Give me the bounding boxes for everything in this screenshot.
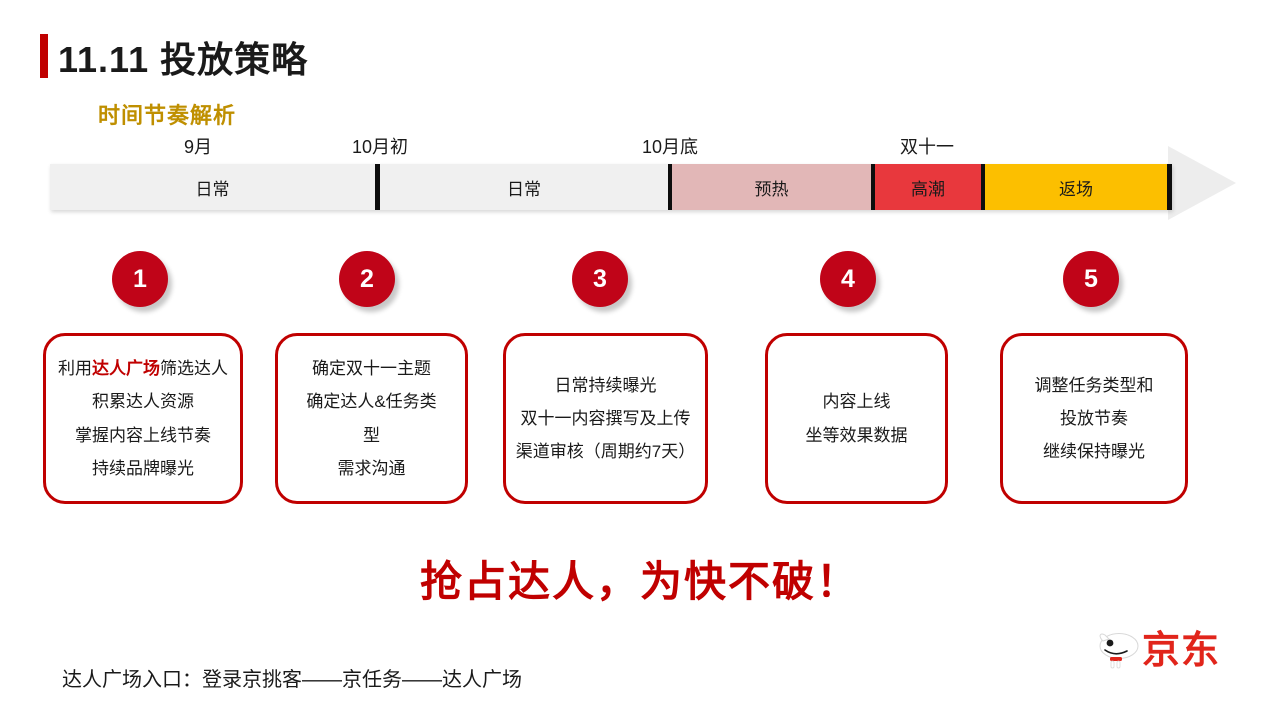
timeline-segment-2: 预热 (668, 164, 875, 210)
step-line: 内容上线 (776, 385, 937, 418)
step-line: 确定双十一主题 (286, 352, 457, 385)
title-accent-bar (40, 34, 48, 78)
step-line: 需求沟通 (286, 452, 457, 485)
step-line: 日常持续曝光 (514, 369, 697, 402)
step-line: 利用达人广场筛选达人 (54, 352, 232, 385)
timeline-segment-1: 日常 (380, 164, 668, 210)
step-box-5: 调整任务类型和投放节奏继续保持曝光 (1000, 333, 1188, 504)
step-line: 持续品牌曝光 (54, 452, 232, 485)
step-line: 继续保持曝光 (1011, 435, 1177, 468)
step-number-badge-3: 3 (572, 251, 628, 307)
step-line: 掌握内容上线节奏 (54, 419, 232, 452)
step-line: 坐等效果数据 (776, 419, 937, 452)
timeline-label-0: 9月 (184, 133, 212, 159)
timeline-label-2: 10月底 (642, 133, 698, 159)
footer-note: 达人广场入口：登录京挑客——京任务——达人广场 (62, 663, 522, 692)
step-text-post: 筛选达人 (160, 359, 228, 378)
step-line: 双十一内容撰写及上传 (514, 402, 697, 435)
slide-canvas: 11.11 投放策略 时间节奏解析 9月10月初10月底双十一 日常日常预热高潮… (0, 0, 1280, 720)
step-number-badge-2: 2 (339, 251, 395, 307)
timeline-bar: 日常日常预热高潮返场 (50, 164, 1172, 210)
step-line: 型 (286, 419, 457, 452)
timeline-label-1: 10月初 (352, 133, 408, 159)
slogan-text: 抢占达人，为快不破！ (0, 548, 1280, 609)
timeline-segment-0: 日常 (50, 164, 375, 210)
step-box-2: 确定双十一主题确定达人&任务类型需求沟通 (275, 333, 468, 504)
step-number-badge-1: 1 (112, 251, 168, 307)
step-line: 确定达人&任务类 (286, 385, 457, 418)
step-box-3: 日常持续曝光双十一内容撰写及上传渠道审核（周期约7天） (503, 333, 708, 504)
page-title: 11.11 投放策略 (58, 31, 308, 83)
jd-logo: 京东 (1096, 628, 1240, 684)
step-line: 渠道审核（周期约7天） (514, 435, 697, 468)
jd-brand-text: 京东 (1142, 632, 1220, 670)
timeline-arrow-head (1168, 146, 1236, 220)
step-number-badge-5: 5 (1063, 251, 1119, 307)
step-number-badge-4: 4 (820, 251, 876, 307)
timeline-segment-4: 返场 (985, 164, 1172, 210)
step-line: 积累达人资源 (54, 385, 232, 418)
step-line: 调整任务类型和 (1011, 369, 1177, 402)
step-text-pre: 利用 (58, 359, 92, 378)
timeline-label-3: 双十一 (900, 133, 954, 159)
jd-dog-icon (1096, 630, 1140, 674)
step-text-highlight: 达人广场 (92, 359, 160, 378)
timeline-labels: 9月10月初10月底双十一 (0, 133, 1280, 161)
step-line: 投放节奏 (1011, 402, 1177, 435)
section-subtitle: 时间节奏解析 (98, 98, 236, 130)
step-box-4: 内容上线坐等效果数据 (765, 333, 948, 504)
timeline-segment-3: 高潮 (875, 164, 985, 210)
step-box-1: 利用达人广场筛选达人积累达人资源掌握内容上线节奏持续品牌曝光 (43, 333, 243, 504)
